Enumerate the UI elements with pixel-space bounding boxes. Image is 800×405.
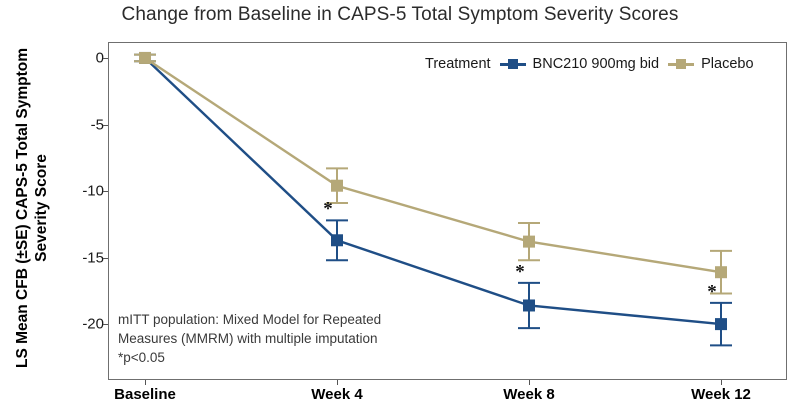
y-tick-label: -15 [60, 249, 104, 266]
y-tick-mark [103, 258, 108, 259]
y-tick-label: -20 [60, 316, 104, 333]
legend: Treatment BNC210 900mg bid Placebo [425, 56, 754, 72]
y-tick-mark [103, 125, 108, 126]
x-tick-label: Week 12 [691, 386, 751, 403]
legend-swatch-bnc210 [500, 58, 526, 70]
x-tick-mark [529, 380, 530, 385]
legend-title: Treatment [425, 56, 491, 72]
legend-item-bnc210[interactable]: BNC210 900mg bid [500, 56, 660, 72]
chart-figure: Change from Baseline in CAPS-5 Total Sym… [0, 0, 800, 405]
y-tick-mark [103, 58, 108, 59]
legend-swatch-placebo [668, 58, 694, 70]
x-tick-label: Week 8 [503, 386, 554, 403]
chart-title: Change from Baseline in CAPS-5 Total Sym… [0, 4, 800, 26]
x-tick-label: Baseline [114, 386, 176, 403]
footnote-annotation: mITT population: Mixed Model for Repeate… [118, 310, 381, 367]
y-tick-mark [103, 324, 108, 325]
y-axis-tick-labels: 0-5-10-15-20 [56, 0, 104, 405]
y-tick-label: -10 [60, 183, 104, 200]
x-tick-mark [721, 380, 722, 385]
y-tick-label: -5 [60, 116, 104, 133]
significance-asterisk: * [707, 282, 717, 301]
x-tick-mark [337, 380, 338, 385]
significance-asterisk: * [515, 262, 525, 281]
y-tick-label: 0 [60, 49, 104, 66]
y-axis-label-line-2: Severity Score [33, 38, 51, 378]
x-tick-label: Week 4 [311, 386, 362, 403]
y-axis-label-line-1: LS Mean CFB (±SE) CAPS-5 Total Symptom [14, 38, 32, 378]
legend-label-bnc210: BNC210 900mg bid [533, 56, 660, 72]
significance-asterisk: * [323, 200, 333, 219]
legend-label-placebo: Placebo [701, 56, 753, 72]
y-tick-mark [103, 191, 108, 192]
x-tick-mark [145, 380, 146, 385]
legend-item-placebo[interactable]: Placebo [668, 56, 753, 72]
